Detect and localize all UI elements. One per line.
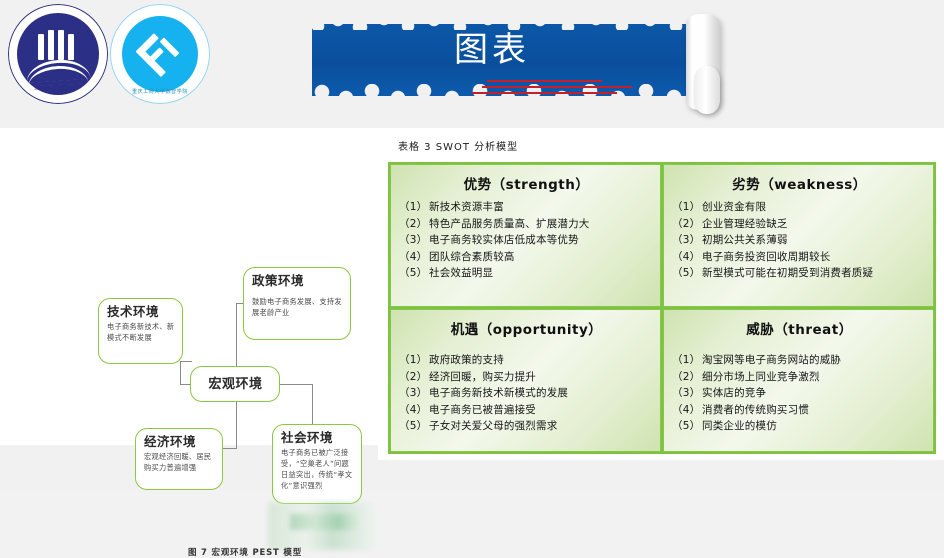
- connector-social-v: [312, 384, 313, 426]
- item-text: 团队综合素质较高: [429, 249, 654, 266]
- list-item: （4）电子商务已被普遍接受: [399, 402, 654, 419]
- item-text: 新技术资源丰富: [429, 199, 654, 216]
- list-item: （2）特色产品服务质量高、扩展潜力大: [399, 216, 654, 233]
- item-text: 电子商务新技术新模式的发展: [429, 385, 654, 402]
- list-item: （4）团队综合素质较高: [399, 249, 654, 266]
- figure-caption: 图 7 宏观环境 PEST 模型: [188, 546, 388, 558]
- table-caption: 表格 3 SWOT 分析模型: [398, 138, 518, 153]
- item-number: （5）: [672, 265, 702, 282]
- list-item: （4）电子商务投资回收周期较长: [672, 249, 927, 266]
- item-text: 企业管理经验缺乏: [702, 216, 927, 233]
- list-item: （1）新技术资源丰富: [399, 199, 654, 216]
- swot-cell-title: 机遇（opportunity）: [399, 318, 654, 338]
- swot-table: 优势（strength） （1）新技术资源丰富 （2）特色产品服务质量高、扩展潜…: [388, 162, 936, 454]
- item-number: （3）: [672, 232, 702, 249]
- list-item: （3）电子商务新技术新模式的发展: [399, 385, 654, 402]
- node-title: 社会环境: [281, 430, 354, 445]
- item-text: 消费者的传统购买习惯: [702, 402, 927, 419]
- item-number: （4）: [399, 249, 429, 266]
- list-item: （3）实体店的竞争: [672, 385, 927, 402]
- list-item: （5）子女对关爱父母的强烈需求: [399, 418, 654, 435]
- connector-policy-v: [236, 303, 237, 366]
- item-text: 同类企业的模仿: [702, 418, 927, 435]
- torn-paper-banner: 图表: [312, 6, 732, 114]
- list-item: （2）企业管理经验缺乏: [672, 216, 927, 233]
- slide-title: 图表: [312, 26, 672, 74]
- pest-node-technology[interactable]: 技术环境 电子商务新技术、新模式不断发展: [98, 298, 183, 364]
- pest-node-social[interactable]: 社会环境 电子商务已被广泛接受，“空巢老人”问题日益突出，传统“孝文化”意识强烈: [272, 424, 362, 504]
- item-number: （4）: [399, 402, 429, 419]
- pest-node-policy[interactable]: 政策环境 鼓励电子商务发展、支持发展老龄产业: [243, 267, 351, 340]
- logo-building-icon: [36, 30, 80, 60]
- item-text: 淘宝网等电子商务网站的威胁: [702, 352, 927, 369]
- item-number: （1）: [672, 352, 702, 369]
- college-logo: 重庆工商大学融智学院: [110, 4, 210, 104]
- swot-item-list: （1）创业资金有限 （2）企业管理经验缺乏 （3）初期公共关系薄弱 （4）电子商…: [672, 199, 927, 282]
- item-number: （1）: [672, 199, 702, 216]
- list-item: （5）同类企业的模仿: [672, 418, 927, 435]
- swot-cell-strength[interactable]: 优势（strength） （1）新技术资源丰富 （2）特色产品服务质量高、扩展潜…: [390, 164, 661, 307]
- swot-cell-weakness[interactable]: 劣势（weakness） （1）创业资金有限 （2）企业管理经验缺乏 （3）初期…: [663, 164, 934, 307]
- item-number: （1）: [399, 352, 429, 369]
- connector-tech-v: [180, 361, 181, 384]
- item-text: 特色产品服务质量高、扩展潜力大: [429, 216, 654, 233]
- item-number: （1）: [399, 199, 429, 216]
- item-number: （4）: [672, 402, 702, 419]
- item-text: 子女对关爱父母的强烈需求: [429, 418, 654, 435]
- list-item: （3）初期公共关系薄弱: [672, 232, 927, 249]
- item-number: （2）: [399, 369, 429, 386]
- item-number: （2）: [399, 216, 429, 233]
- paper-curl-roll-inner: [694, 66, 720, 114]
- node-title: 技术环境: [107, 304, 175, 319]
- slide-header: 重庆工商大学 重庆工商大学融智学院 图表: [0, 0, 944, 128]
- pest-node-economic[interactable]: 经济环境 宏观经济回暖、居民购买力普遍增强: [135, 428, 223, 490]
- item-number: （2）: [672, 216, 702, 233]
- swot-item-list: （1）新技术资源丰富 （2）特色产品服务质量高、扩展潜力大 （3）电子商务较实体…: [399, 199, 654, 282]
- swot-cell-opportunity[interactable]: 机遇（opportunity） （1）政府政策的支持 （2）经济回暖，购买力提升…: [390, 309, 661, 452]
- list-item: （4）消费者的传统购买习惯: [672, 402, 927, 419]
- swot-cell-title: 劣势（weakness）: [672, 173, 927, 193]
- node-title: 经济环境: [144, 434, 215, 449]
- item-number: （3）: [399, 385, 429, 402]
- swot-cell-title: 威胁（threat）: [672, 318, 927, 338]
- list-item: （1）创业资金有限: [672, 199, 927, 216]
- node-body: 宏观经济回暖、居民购买力普遍增强: [144, 451, 215, 473]
- slide-canvas: 重庆工商大学 重庆工商大学融智学院 图表: [0, 0, 944, 490]
- title-underline-2: [482, 86, 632, 88]
- item-number: （2）: [672, 369, 702, 386]
- item-number: （3）: [672, 385, 702, 402]
- item-number: （5）: [672, 418, 702, 435]
- node-body: 电子商务已被广泛接受，“空巢老人”问题日益突出，传统“孝文化”意识强烈: [281, 447, 354, 491]
- title-underline-1: [487, 80, 602, 82]
- swot-item-list: （1）政府政策的支持 （2）经济回暖，购买力提升 （3）电子商务新技术新模式的发…: [399, 352, 654, 435]
- connector-social-h: [280, 384, 312, 385]
- list-item: （1）淘宝网等电子商务网站的威胁: [672, 352, 927, 369]
- item-number: （4）: [672, 249, 702, 266]
- item-number: （5）: [399, 418, 429, 435]
- university-logo-cn-text: 重庆工商大学: [8, 82, 108, 92]
- list-item: （5）社会效益明显: [399, 265, 654, 282]
- pest-node-center[interactable]: 宏观环境: [190, 366, 280, 402]
- list-item: （3）电子商务较实体店低成本等优势: [399, 232, 654, 249]
- blurred-watermark-bar: [290, 514, 362, 530]
- node-title: 宏观环境: [199, 372, 272, 398]
- item-text: 细分市场上同业竞争激烈: [702, 369, 927, 386]
- university-logo: 重庆工商大学: [8, 4, 108, 104]
- connector-econ-v: [236, 402, 237, 448]
- item-number: （5）: [399, 265, 429, 282]
- item-text: 电子商务已被普遍接受: [429, 402, 654, 419]
- pest-diagram: 技术环境 电子商务新技术、新模式不断发展 政策环境 鼓励电子商务发展、支持发展老…: [0, 128, 380, 445]
- node-title: 政策环境: [252, 273, 343, 288]
- swot-item-list: （1）淘宝网等电子商务网站的威胁 （2）细分市场上同业竞争激烈 （3）实体店的竞…: [672, 352, 927, 435]
- list-item: （1）政府政策的支持: [399, 352, 654, 369]
- item-text: 创业资金有限: [702, 199, 927, 216]
- item-text: 政府政策的支持: [429, 352, 654, 369]
- item-text: 电子商务较实体店低成本等优势: [429, 232, 654, 249]
- item-text: 初期公共关系薄弱: [702, 232, 927, 249]
- node-body: 鼓励电子商务发展、支持发展老龄产业: [252, 296, 343, 318]
- college-logo-cn-text: 重庆工商大学融智学院: [110, 88, 210, 95]
- connector-econ-h: [221, 448, 237, 449]
- title-underline-3: [472, 92, 617, 94]
- connector-tech-h: [180, 361, 192, 362]
- item-text: 实体店的竞争: [702, 385, 927, 402]
- item-number: （3）: [399, 232, 429, 249]
- item-text: 新型模式可能在初期受到消费者质疑: [702, 265, 927, 282]
- item-text: 经济回暖，购买力提升: [429, 369, 654, 386]
- swot-cell-threat[interactable]: 威胁（threat） （1）淘宝网等电子商务网站的威胁 （2）细分市场上同业竞争…: [663, 309, 934, 452]
- list-item: （5）新型模式可能在初期受到消费者质疑: [672, 265, 927, 282]
- list-item: （2）经济回暖，购买力提升: [399, 369, 654, 386]
- list-item: （2）细分市场上同业竞争激烈: [672, 369, 927, 386]
- item-text: 社会效益明显: [429, 265, 654, 282]
- node-body: 电子商务新技术、新模式不断发展: [107, 321, 175, 343]
- swot-cell-title: 优势（strength）: [399, 173, 654, 193]
- item-text: 电子商务投资回收周期较长: [702, 249, 927, 266]
